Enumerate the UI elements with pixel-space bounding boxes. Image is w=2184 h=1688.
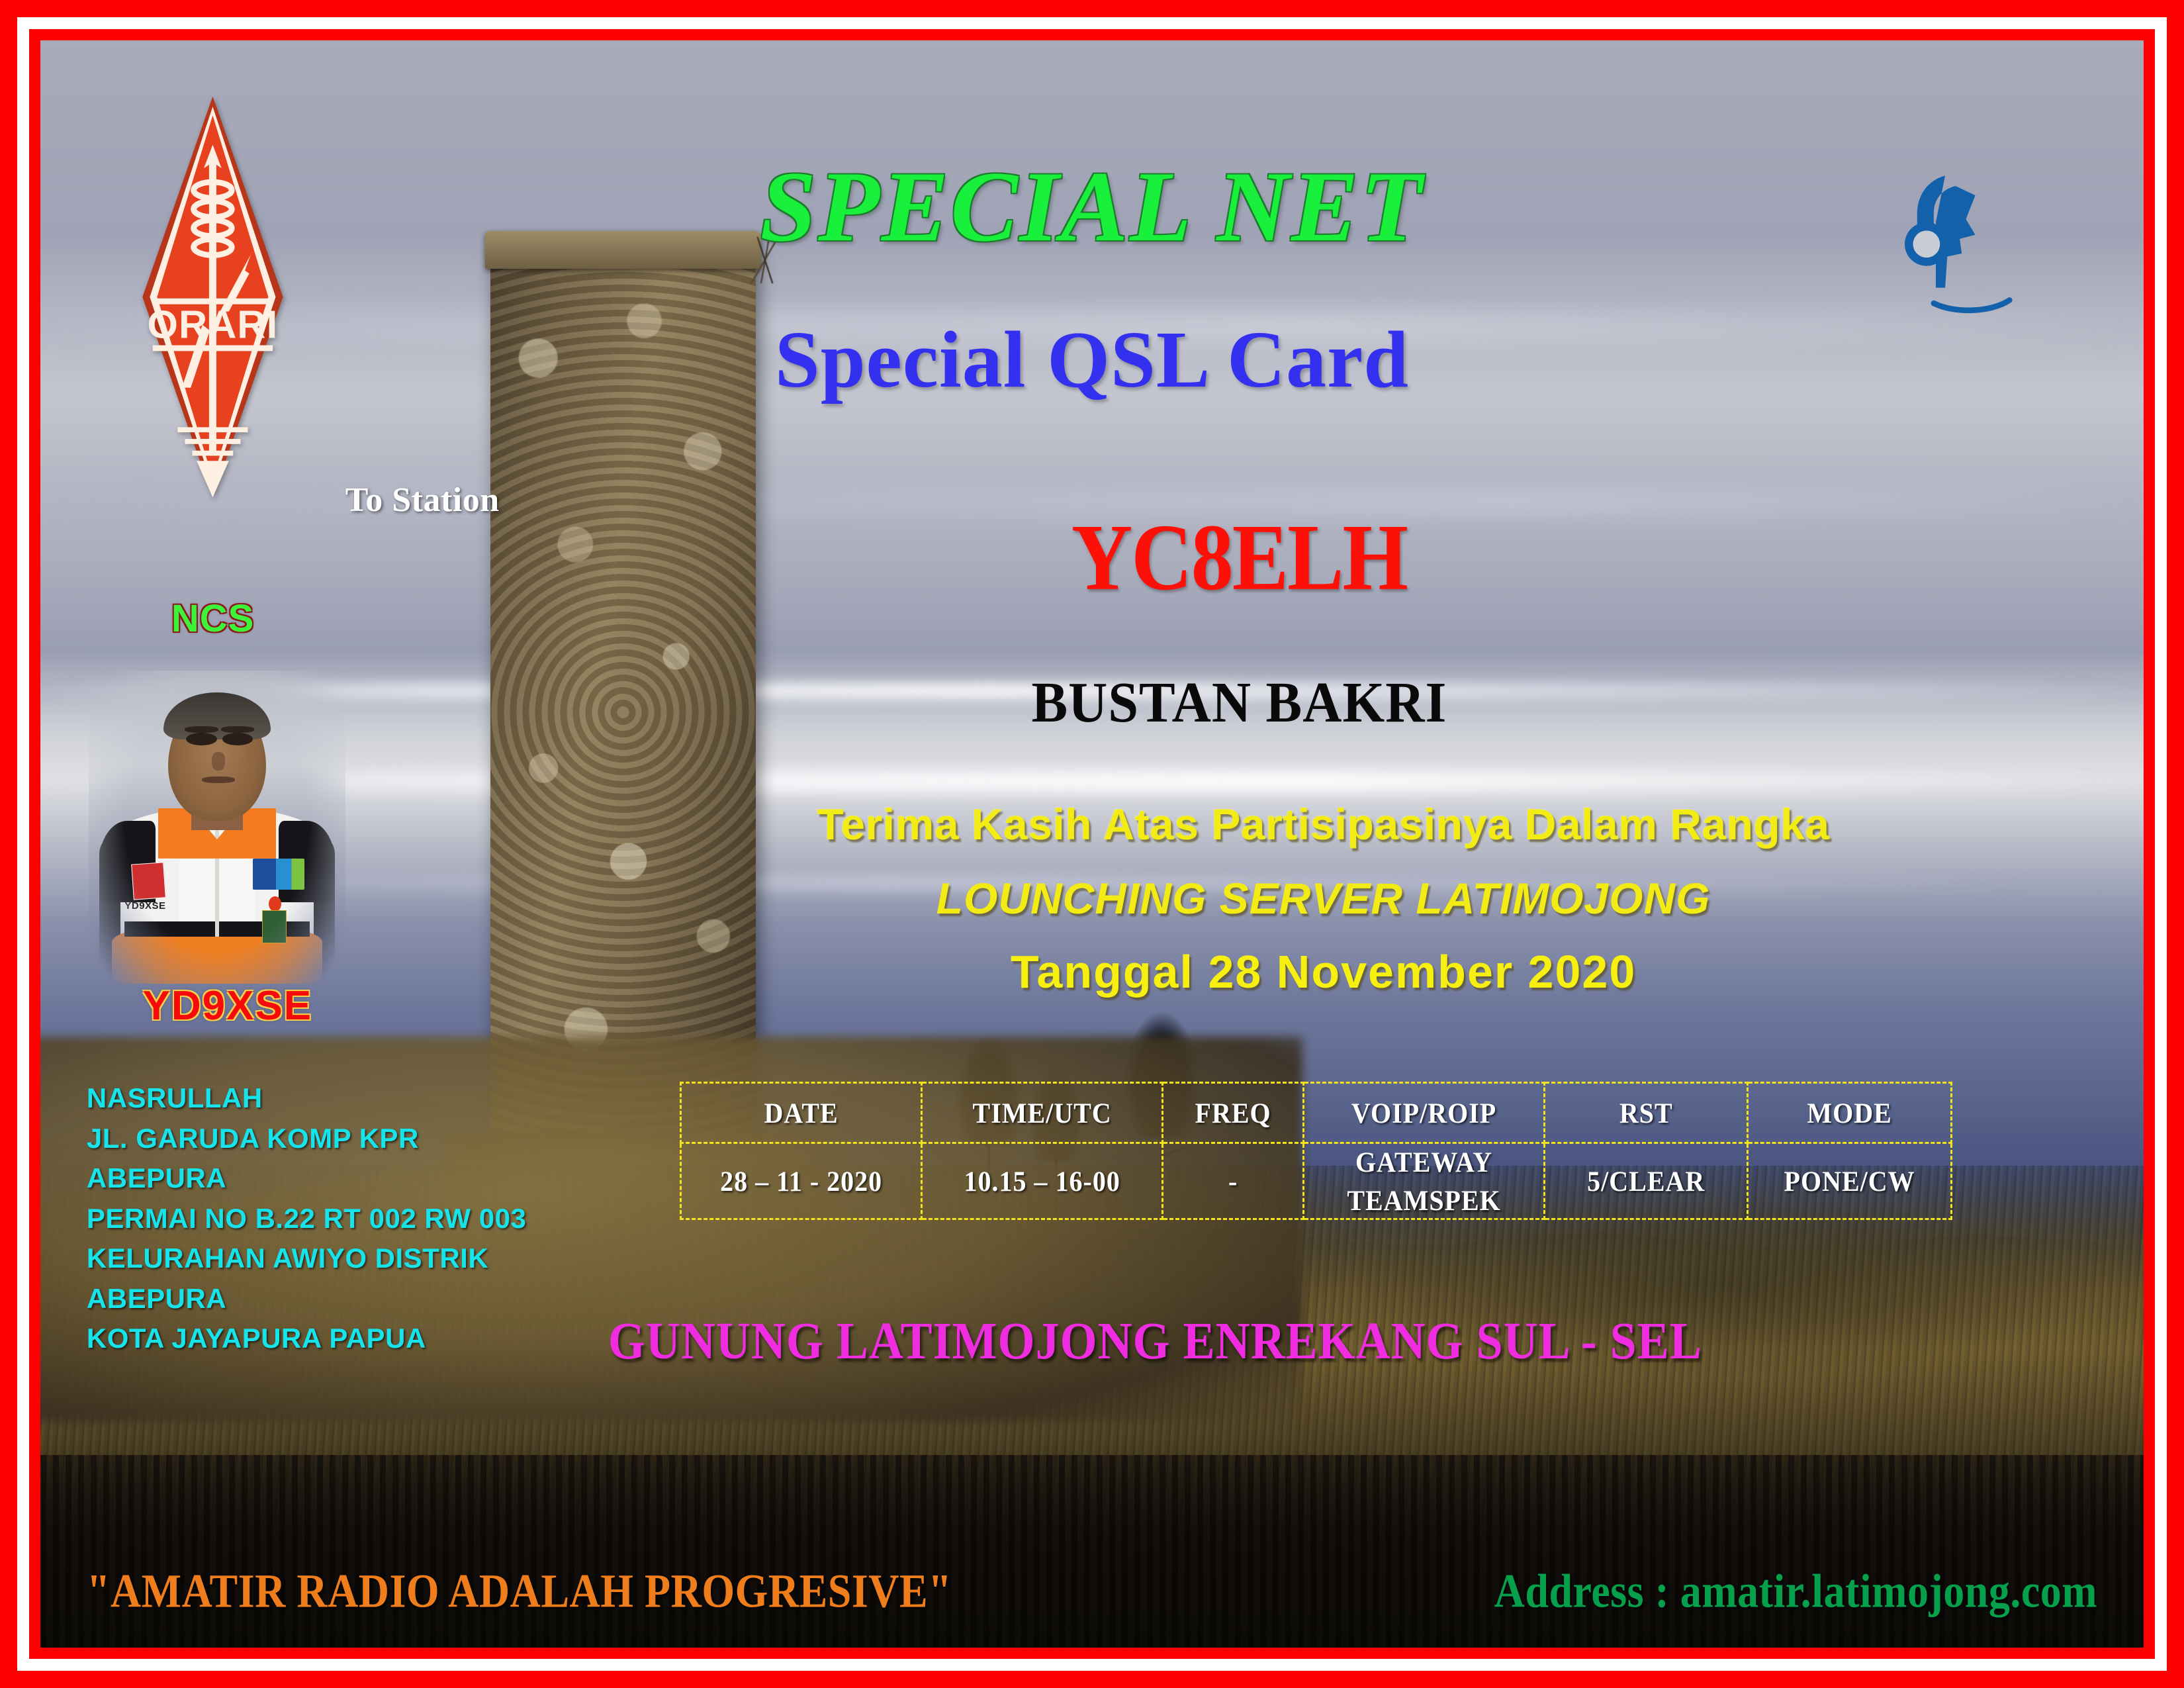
cell-date: 28 – 11 - 2020 xyxy=(681,1140,922,1222)
footer-slogan: "AMATIR RADIO ADALAH PROGRESIVE" xyxy=(87,1568,952,1616)
qso-details-table: DATE TIME/UTC FREQ VOIP/ROIP RST MODE 28… xyxy=(680,1082,1952,1220)
qsl-card-white-frame: ORARI xyxy=(17,17,2167,1671)
address-line: KELURAHAN AWIYO DISTRIK xyxy=(87,1239,655,1278)
svg-text:ORARI: ORARI xyxy=(148,302,279,346)
column-header-date: DATE xyxy=(681,1080,922,1145)
footer-web-address: Address : amatir.latimojong.com xyxy=(1494,1568,2097,1616)
table-row: 28 – 11 - 2020 10.15 – 16-00 - GATEWAY T… xyxy=(681,1143,1952,1219)
thanks-line: Terima Kasih Atas Partisipasinya Dalam R… xyxy=(735,802,1913,846)
orari-logo: ORARI xyxy=(137,92,289,502)
footer-dark-band xyxy=(40,1455,2144,1648)
ncs-callsign: YD9XSE xyxy=(91,982,364,1029)
qsl-card-photo-area: ORARI xyxy=(40,40,2144,1648)
cell-freq: - xyxy=(1163,1140,1304,1222)
cell-time: 10.15 – 16-00 xyxy=(922,1140,1163,1222)
column-header-mode: MODE xyxy=(1748,1080,1951,1145)
ncs-operator-photo: YD9XSE xyxy=(89,671,345,984)
photo-shirt-callsign: YD9XSE xyxy=(124,900,165,912)
launch-line: LOUNCHING SERVER LATIMOJONG xyxy=(735,876,1913,920)
net-headset-logo xyxy=(1897,82,2053,387)
table-header-row: DATE TIME/UTC FREQ VOIP/ROIP RST MODE xyxy=(681,1083,1952,1143)
column-header-voip: VOIP/ROIP xyxy=(1304,1080,1545,1145)
page-subtitle: Special QSL Card xyxy=(440,320,1744,400)
column-header-rst: RST xyxy=(1545,1080,1748,1145)
event-date-line: Tanggal 28 November 2020 xyxy=(735,949,1913,995)
qsl-card-inner-frame: ORARI xyxy=(29,29,2155,1659)
address-line: JL. GARUDA KOMP KPR xyxy=(87,1119,655,1158)
cell-voip: GATEWAY TEAMSPEK xyxy=(1304,1140,1545,1222)
address-line: PERMAI NO B.22 RT 002 RW 003 xyxy=(87,1199,655,1239)
location-line: GUNUNG LATIMOJONG ENREKANG SUL - SEL xyxy=(503,1315,1807,1367)
operator-name: BUSTAN BAKRI xyxy=(840,674,1639,731)
address-line: ABEPURA xyxy=(87,1158,655,1198)
address-line: ABEPURA xyxy=(87,1279,655,1319)
qsl-card-outer-frame: ORARI xyxy=(0,0,2184,1688)
ncs-label: NCS xyxy=(108,596,318,641)
cell-voip-line2: TEAMSPEK xyxy=(1305,1181,1543,1219)
column-header-time: TIME/UTC xyxy=(922,1080,1163,1145)
to-station-label: To Station xyxy=(345,481,500,520)
station-callsign: YC8ELH xyxy=(840,510,1639,604)
page-title: SPECIAL NET xyxy=(440,156,1744,257)
cell-voip-line1: GATEWAY xyxy=(1305,1143,1543,1181)
address-line: NASRULLAH xyxy=(87,1078,655,1118)
column-header-freq: FREQ xyxy=(1163,1080,1304,1145)
cell-mode: PONE/CW xyxy=(1748,1140,1951,1222)
cell-rst: 5/CLEAR xyxy=(1545,1140,1748,1222)
